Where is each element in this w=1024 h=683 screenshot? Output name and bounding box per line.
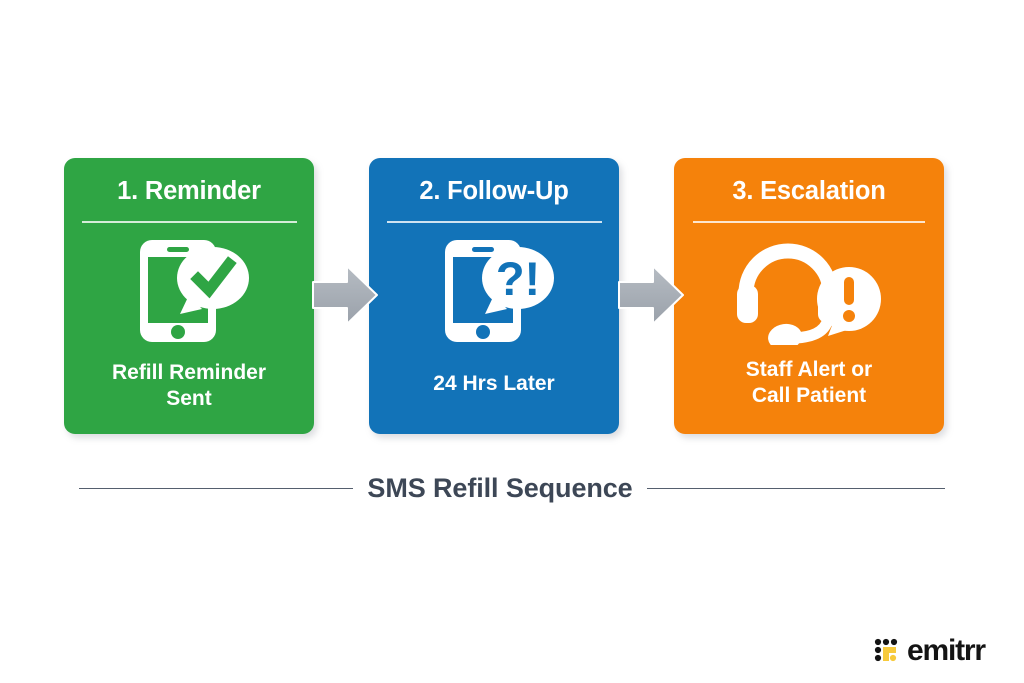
headset-alert-icon: [736, 237, 882, 345]
emitrr-dot-grid-icon: [874, 638, 900, 664]
card-divider: [82, 221, 297, 223]
step-card-title: 1. Reminder: [64, 158, 314, 205]
phone-question-message-icon: ?!: [433, 235, 555, 347]
arrow-right-icon: [617, 264, 685, 326]
card-divider: [387, 221, 602, 223]
caption-rule-left: [79, 488, 353, 489]
step-card-escalation[interactable]: 3. Escalation: [674, 158, 944, 434]
step-card-follow-up[interactable]: 2. Follow-Up ?! 24 Hrs Later: [369, 158, 619, 434]
emitrr-logo[interactable]: emitrr: [874, 634, 985, 668]
step-card-title: 2. Follow-Up: [369, 158, 619, 205]
caption-rule-right: [647, 488, 945, 489]
phone-check-message-icon: [128, 235, 250, 347]
step-card-caption: Refill Reminder Sent: [64, 360, 314, 414]
step-card-title: 3. Escalation: [674, 158, 944, 205]
emitrr-wordmark: emitrr: [907, 636, 985, 666]
diagram-caption: SMS Refill Sequence: [0, 470, 1024, 506]
caption-text: SMS Refill Sequence: [367, 475, 632, 502]
step-card-caption: 24 Hrs Later: [369, 371, 619, 398]
step-card-caption: Staff Alert or Call Patient: [674, 357, 944, 411]
step-card-reminder[interactable]: 1. Reminder Refill Reminder Sent: [64, 158, 314, 434]
svg-text:?!: ?!: [496, 252, 540, 305]
arrow-right-icon: [311, 264, 379, 326]
card-divider: [693, 221, 925, 223]
step-cards-container: 1. Reminder Refill Reminder Sent 2. Foll…: [0, 0, 1024, 683]
